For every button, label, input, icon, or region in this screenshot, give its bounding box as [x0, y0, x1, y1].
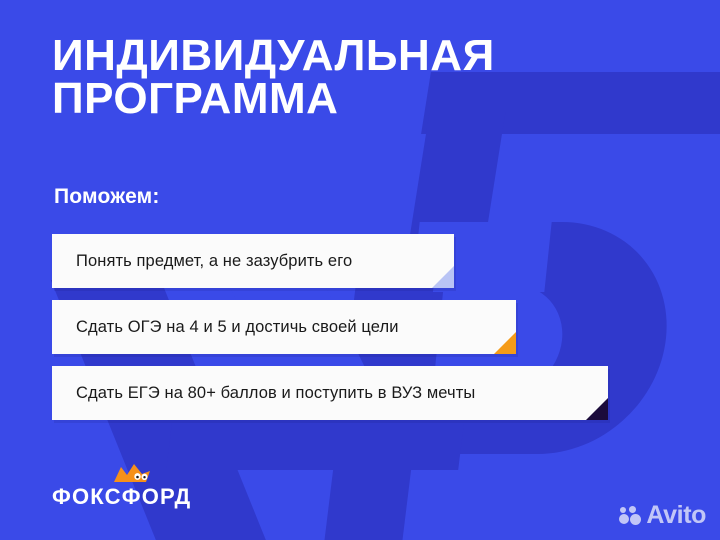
fox-icon — [112, 462, 152, 484]
benefit-card-label: Понять предмет, а не зазубрить его — [52, 252, 386, 271]
avito-watermark: Avito — [619, 503, 706, 528]
benefit-card: Понять предмет, а не зазубрить его — [52, 234, 454, 288]
promo-poster: ИНДИВИДУАЛЬНАЯ ПРОГРАММА Поможем: Понять… — [0, 0, 720, 540]
benefit-card: Сдать ОГЭ на 4 и 5 и достичь своей цели — [52, 300, 516, 354]
page-title: ИНДИВИДУАЛЬНАЯ ПРОГРАММА — [52, 34, 652, 120]
benefit-card-label: Сдать ЕГЭ на 80+ баллов и поступить в ВУ… — [52, 384, 509, 403]
benefit-card-list: Понять предмет, а не зазубрить его Сдать… — [52, 234, 608, 432]
benefit-card-label: Сдать ОГЭ на 4 и 5 и достичь своей цели — [52, 318, 433, 337]
avito-dots-icon — [619, 506, 641, 526]
subtitle: Поможем: — [54, 185, 160, 209]
card-fold-corner-icon — [432, 266, 454, 288]
card-fold-corner-icon — [494, 332, 516, 354]
brand-name: ФОКСФОРД — [52, 484, 191, 510]
card-fold-corner-icon — [586, 398, 608, 420]
avito-wordmark: Avito — [646, 503, 706, 528]
benefit-card: Сдать ЕГЭ на 80+ баллов и поступить в ВУ… — [52, 366, 608, 420]
brand-logo: ФОКСФОРД — [52, 460, 222, 510]
